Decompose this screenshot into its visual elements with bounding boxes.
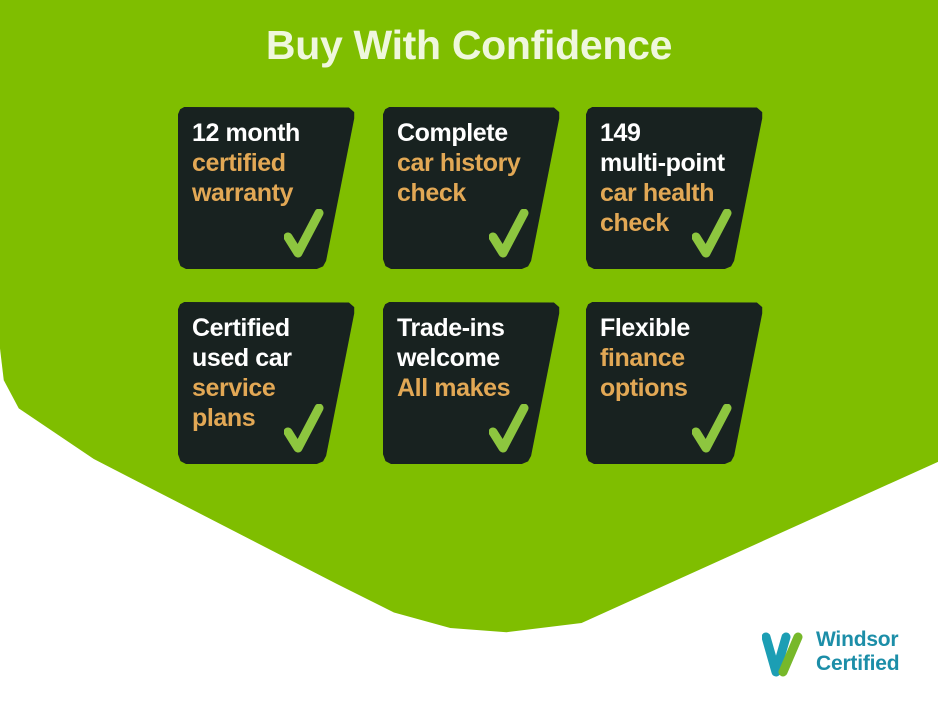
buy-with-confidence-banner: Buy With Confidence 12 month certified w… bbox=[0, 0, 938, 704]
benefit-card-flexible-finance-options[interactable]: Flexible finance options bbox=[586, 302, 764, 464]
check-icon bbox=[489, 209, 529, 261]
check-icon bbox=[692, 404, 732, 456]
logo-wordmark: Windsor Certified bbox=[816, 628, 899, 676]
card-text: 12 month certified warranty bbox=[192, 118, 352, 208]
windsor-w-icon bbox=[762, 628, 810, 678]
benefit-card-certified-used-car-service-plans[interactable]: Certified used car service plans bbox=[178, 302, 356, 464]
card-text: 149 multi-point car health check bbox=[600, 118, 760, 238]
card-line-secondary: service bbox=[192, 373, 352, 403]
card-line-primary: welcome bbox=[397, 343, 557, 373]
card-line-primary: Flexible bbox=[600, 313, 760, 343]
benefit-card-grid: 12 month certified warranty Complete car… bbox=[178, 107, 758, 497]
card-text: Certified used car service plans bbox=[192, 313, 352, 433]
check-icon bbox=[692, 209, 732, 261]
card-line-secondary: check bbox=[600, 208, 760, 238]
check-icon bbox=[284, 404, 324, 456]
card-line-secondary: certified bbox=[192, 148, 352, 178]
benefit-card-149-multi-point-car-health-check[interactable]: 149 multi-point car health check bbox=[586, 107, 764, 269]
page-title: Buy With Confidence bbox=[0, 20, 938, 70]
logo-word-windsor: Windsor bbox=[816, 628, 899, 652]
card-line-primary: Trade-ins bbox=[397, 313, 557, 343]
card-line-primary: 149 bbox=[600, 118, 760, 148]
card-line-secondary: options bbox=[600, 373, 760, 403]
card-line-secondary: car health bbox=[600, 178, 760, 208]
card-line-secondary: All makes bbox=[397, 373, 557, 403]
windsor-certified-logo[interactable]: Windsor Certified bbox=[762, 626, 922, 686]
card-line-primary: multi-point bbox=[600, 148, 760, 178]
check-icon bbox=[489, 404, 529, 456]
card-line-primary: 12 month bbox=[192, 118, 352, 148]
benefit-card-trade-ins-welcome-all-makes[interactable]: Trade-ins welcome All makes bbox=[383, 302, 561, 464]
logo-word-certified: Certified bbox=[816, 652, 899, 676]
check-icon bbox=[284, 209, 324, 261]
card-line-secondary: plans bbox=[192, 403, 352, 433]
card-line-secondary: warranty bbox=[192, 178, 352, 208]
card-text: Trade-ins welcome All makes bbox=[397, 313, 557, 403]
card-row-1: 12 month certified warranty Complete car… bbox=[178, 107, 758, 302]
card-line-primary: used car bbox=[192, 343, 352, 373]
card-line-secondary: check bbox=[397, 178, 557, 208]
card-line-secondary: car history bbox=[397, 148, 557, 178]
card-line-primary: Certified bbox=[192, 313, 352, 343]
card-text: Complete car history check bbox=[397, 118, 557, 208]
benefit-card-12-month-certified-warranty[interactable]: 12 month certified warranty bbox=[178, 107, 356, 269]
card-row-2: Certified used car service plans Trade-i… bbox=[178, 302, 758, 497]
benefit-card-complete-car-history-check[interactable]: Complete car history check bbox=[383, 107, 561, 269]
card-text: Flexible finance options bbox=[600, 313, 760, 403]
card-line-primary: Complete bbox=[397, 118, 557, 148]
card-line-secondary: finance bbox=[600, 343, 760, 373]
